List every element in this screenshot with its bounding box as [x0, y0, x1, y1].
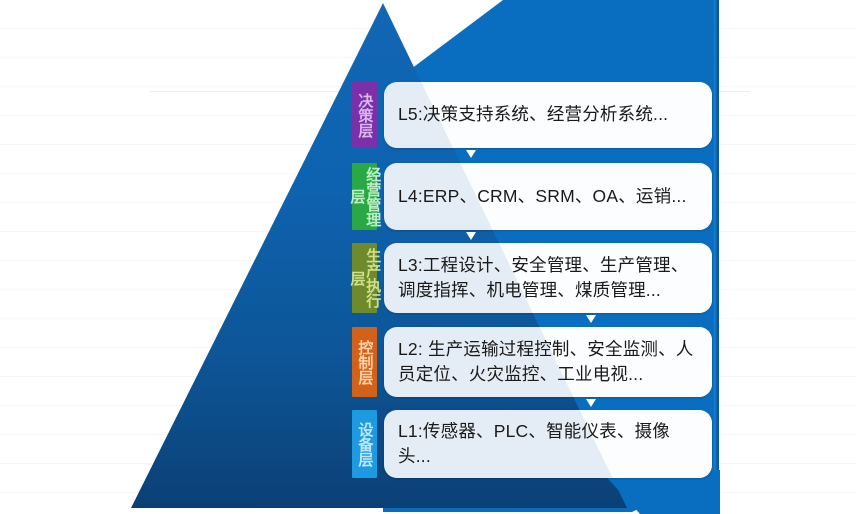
level-card-l2[interactable]: L2: 生产运输过程控制、安全监测、人员定位、火灾监控、工业电视... — [384, 327, 712, 397]
down-arrow-l5-l4 — [466, 150, 476, 158]
pyramid-level-row[interactable]: 设备层L1:传感器、PLC、智能仪表、摄像头... — [352, 410, 712, 478]
level-tab-l3[interactable]: 生产执行层 — [352, 243, 377, 313]
level-card-text-l4: L4:ERP、CRM、SRM、OA、运销... — [384, 184, 701, 209]
level-card-text-l5: L5:决策支持系统、经营分析系统... — [384, 102, 682, 127]
level-card-l5[interactable]: L5:决策支持系统、经营分析系统... — [384, 82, 712, 148]
level-tab-l2[interactable]: 控制层 — [352, 327, 377, 397]
level-tab-l4[interactable]: 经营管理层 — [352, 163, 377, 230]
down-arrow-l3-l2 — [586, 315, 596, 323]
pyramid-level-row[interactable]: 控制层L2: 生产运输过程控制、安全监测、人员定位、火灾监控、工业电视... — [352, 327, 712, 397]
level-card-text-l2: L2: 生产运输过程控制、安全监测、人员定位、火灾监控、工业电视... — [384, 337, 712, 388]
level-tab-l5[interactable]: 决策层 — [352, 82, 377, 148]
level-card-text-l3: L3:工程设计、安全管理、生产管理、调度指挥、机电管理、煤质管理... — [384, 253, 712, 304]
pyramid-level-row[interactable]: 经营管理层L4:ERP、CRM、SRM、OA、运销... — [352, 163, 712, 230]
level-card-l1[interactable]: L1:传感器、PLC、智能仪表、摄像头... — [384, 410, 712, 478]
down-arrow-l2-l1 — [586, 399, 596, 407]
level-card-text-l1: L1:传感器、PLC、智能仪表、摄像头... — [384, 419, 712, 470]
pyramid-level-row[interactable]: 决策层L5:决策支持系统、经营分析系统... — [352, 82, 712, 148]
level-tab-l1[interactable]: 设备层 — [352, 410, 377, 478]
pyramid-diagram-canvas: 决策层L5:决策支持系统、经营分析系统...经营管理层L4:ERP、CRM、SR… — [0, 0, 856, 514]
down-arrow-l4-l3 — [466, 232, 476, 240]
pyramid-level-row[interactable]: 生产执行层L3:工程设计、安全管理、生产管理、调度指挥、机电管理、煤质管理... — [352, 243, 712, 313]
blue-panel-right-edge — [714, 0, 719, 512]
level-card-l3[interactable]: L3:工程设计、安全管理、生产管理、调度指挥、机电管理、煤质管理... — [384, 243, 712, 313]
level-card-l4[interactable]: L4:ERP、CRM、SRM、OA、运销... — [384, 163, 712, 230]
